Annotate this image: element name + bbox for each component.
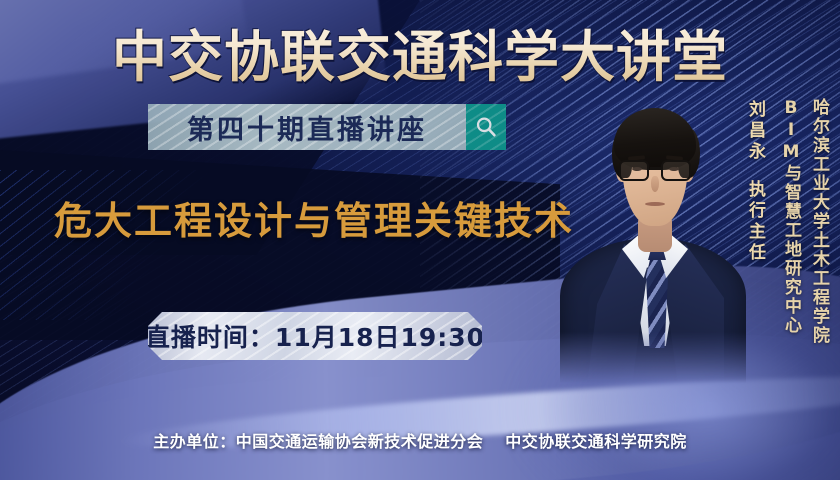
live-time-label: 直播时间：11月18日19:30 <box>148 318 482 354</box>
search-button[interactable] <box>466 104 506 150</box>
speaker-portrait <box>556 86 746 386</box>
live-time-banner: 直播时间：11月18日19:30 <box>148 312 482 360</box>
glasses-icon <box>618 160 692 182</box>
speaker-affiliation-school: 哈尔滨工业大学土木工程学院 <box>807 98 832 345</box>
episode-banner: 第四十期直播讲座 <box>148 104 466 150</box>
search-icon <box>474 115 498 139</box>
webinar-poster: 中交协联交通科学大讲堂 第四十期直播讲座 危大工程设计与管理关键技术 直播时间：… <box>0 0 840 480</box>
glasses-lens-right <box>661 160 691 181</box>
speaker-name: 刘昌永 <box>743 100 768 163</box>
portrait-mouth <box>645 202 665 206</box>
organizer-secondary: 中交协联交通科学研究院 <box>505 432 687 451</box>
footer-organizers: 主办单位：中国交通运输协会新技术促进分会中交协联交通科学研究院 <box>0 428 840 452</box>
speaker-role: 执行主任 <box>743 180 768 264</box>
glasses-bridge <box>650 167 661 170</box>
glasses-lens-left <box>619 160 649 181</box>
episode-label: 第四十期直播讲座 <box>187 108 427 147</box>
page-title: 中交协联交通科学大讲堂 <box>0 12 840 92</box>
speaker-affiliation-center: BIM与智慧工地研究中心 <box>779 98 804 335</box>
organizer-primary: 主办单位：中国交通运输协会新技术促进分会 <box>153 432 483 451</box>
topic-title: 危大工程设计与管理关键技术 <box>54 190 574 245</box>
